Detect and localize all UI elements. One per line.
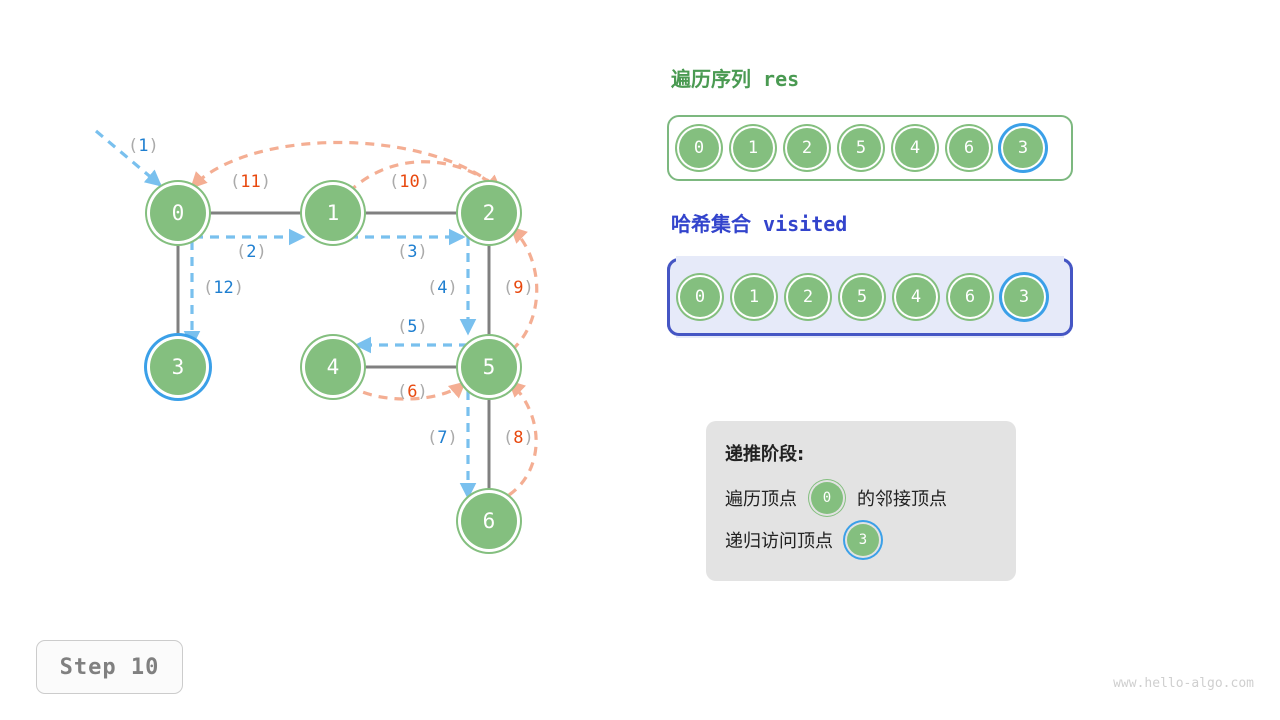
edge-step-label-5: (5): [397, 317, 428, 337]
edge-step-label-6: (6): [397, 382, 428, 402]
visited-chip[interactable]: 2: [788, 277, 828, 317]
paren-close: ): [418, 242, 428, 262]
res-chip[interactable]: 6: [949, 128, 989, 168]
info-heading: 递推阶段:: [725, 440, 1016, 466]
visited-title: 哈希集合 visited: [671, 208, 847, 237]
paren-open: (: [236, 242, 246, 262]
edge-step-label-8: (8): [503, 428, 534, 448]
graph-node-2[interactable]: 2: [461, 185, 517, 241]
paren-close: ): [261, 172, 271, 192]
slide-canvas: 0 1 2 3 4 5 6 (1) (11) (10) (2) (3) (12)…: [0, 0, 1280, 720]
info-line1-prefix: 遍历顶点: [725, 485, 797, 511]
paren-open: (: [503, 428, 513, 448]
node-label: 5: [483, 355, 496, 379]
edge-step-label-11: (11): [230, 172, 271, 192]
info-node-chip-3: 3: [847, 524, 879, 556]
step-number: 3: [407, 242, 417, 262]
graph-node-3[interactable]: 3: [150, 339, 206, 395]
step-number: 9: [513, 278, 523, 298]
step-number: 8: [513, 428, 523, 448]
graph-node-5[interactable]: 5: [461, 339, 517, 395]
step-number: 5: [407, 317, 417, 337]
paren-open: (: [397, 382, 407, 402]
edge-step-label-10: (10): [389, 172, 430, 192]
res-chip[interactable]: 0: [679, 128, 719, 168]
paren-close: ): [234, 278, 244, 298]
node-label: 4: [327, 355, 340, 379]
res-chip[interactable]: 2: [787, 128, 827, 168]
visited-chip-highlighted[interactable]: 3: [1004, 277, 1044, 317]
graph-node-4[interactable]: 4: [305, 339, 361, 395]
paren-close: ): [149, 136, 159, 156]
paren-open: (: [397, 242, 407, 262]
paren-open: (: [397, 317, 407, 337]
paren-close: ): [524, 428, 534, 448]
paren-open: (: [128, 136, 138, 156]
visited-chip[interactable]: 0: [680, 277, 720, 317]
node-label: 0: [172, 201, 185, 225]
paren-close: ): [448, 428, 458, 448]
paren-close: ): [448, 278, 458, 298]
edge-step-label-12: (12): [203, 278, 244, 298]
step-number: 7: [437, 428, 447, 448]
node-label: 2: [483, 201, 496, 225]
step-badge: Step 10: [36, 640, 183, 694]
graph-node-1[interactable]: 1: [305, 185, 361, 241]
box-edge-mask-top: [676, 256, 1064, 262]
step-number: 4: [437, 278, 447, 298]
paren-close: ): [524, 278, 534, 298]
graph-node-0[interactable]: 0: [150, 185, 206, 241]
phase-info-box: 递推阶段: 遍历顶点 0 的邻接顶点 递归访问顶点 3: [706, 421, 1016, 581]
step-number: 12: [213, 278, 233, 298]
step-number: 11: [240, 172, 260, 192]
res-chip[interactable]: 1: [733, 128, 773, 168]
graph-node-6[interactable]: 6: [461, 493, 517, 549]
edge-step-label-1: (1): [128, 136, 159, 156]
edge-step-label-3: (3): [397, 242, 428, 262]
paren-open: (: [503, 278, 513, 298]
res-chip[interactable]: 4: [895, 128, 935, 168]
edge-step-label-2: (2): [236, 242, 267, 262]
paren-open: (: [203, 278, 213, 298]
visited-chip[interactable]: 1: [734, 277, 774, 317]
paren-open: (: [427, 428, 437, 448]
res-sequence-box: 0 1 2 5 4 6 3: [667, 115, 1073, 181]
paren-close: ): [418, 382, 428, 402]
paren-close: ): [420, 172, 430, 192]
step-number: 10: [399, 172, 419, 192]
res-chip[interactable]: 5: [841, 128, 881, 168]
res-chip-highlighted[interactable]: 3: [1003, 128, 1043, 168]
info-line2-prefix: 递归访问顶点: [725, 527, 833, 553]
step-number: 2: [246, 242, 256, 262]
info-line-recurse: 递归访问顶点 3: [725, 524, 1016, 556]
visited-set-box: 0 1 2 5 4 6 3: [667, 258, 1073, 336]
visited-chip[interactable]: 4: [896, 277, 936, 317]
paren-close: ): [418, 317, 428, 337]
edge-step-label-9: (9): [503, 278, 534, 298]
paren-open: (: [427, 278, 437, 298]
visited-chip[interactable]: 5: [842, 277, 882, 317]
paren-open: (: [389, 172, 399, 192]
watermark: www.hello-algo.com: [1113, 676, 1254, 691]
step-number: 1: [138, 136, 148, 156]
graph-diagram: [0, 0, 660, 620]
edge-step-label-4: (4): [427, 278, 458, 298]
node-label: 6: [483, 509, 496, 533]
node-label: 1: [327, 201, 340, 225]
visited-chip[interactable]: 6: [950, 277, 990, 317]
box-edge-mask-bottom: [676, 332, 1064, 338]
paren-open: (: [230, 172, 240, 192]
node-label: 3: [172, 355, 185, 379]
step-number: 6: [407, 382, 417, 402]
paren-close: ): [257, 242, 267, 262]
edge-step-label-7: (7): [427, 428, 458, 448]
info-line-traverse: 遍历顶点 0 的邻接顶点: [725, 482, 1016, 514]
res-title: 遍历序列 res: [671, 63, 799, 92]
info-node-chip-0: 0: [811, 482, 843, 514]
info-line1-suffix: 的邻接顶点: [857, 485, 947, 511]
